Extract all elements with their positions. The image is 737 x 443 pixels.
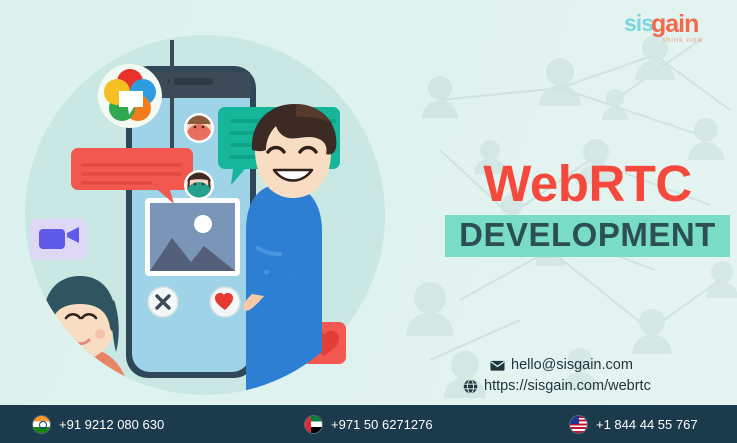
headline-subtitle-band: DEVELOPMENT [445,215,730,257]
flag-usa-icon [570,416,587,433]
photo-placeholder-icon [145,198,240,276]
phone-india-number: +91 9212 080 630 [59,417,164,432]
close-button-icon [148,287,178,317]
svg-text:sis: sis [624,10,653,36]
video-camera-icon [30,218,87,260]
headline-subtitle: DEVELOPMENT [449,218,726,253]
page-title: WebRTC [445,158,730,209]
webrtc-illustration [0,0,420,405]
envelope-icon [490,358,505,373]
contact-bottom-bar: +91 9212 080 630 +971 50 6271276 +1 844 … [0,405,737,443]
contact-block: hello@sisgain.com https://sisgain.com/we… [455,355,730,397]
headline-block: WebRTC DEVELOPMENT [445,158,730,257]
webrtc-development-banner: sis gain think now gain WebRTC DEVELOPME… [0,0,737,443]
phone-usa[interactable]: +1 844 44 55 767 [570,416,698,433]
flag-india-icon [33,416,50,433]
google-petals-icon [98,64,162,128]
globe-icon [463,379,478,394]
avatar-woman-small [184,170,214,200]
svg-text:think now: think now [663,35,704,44]
contact-website-text: https://sisgain.com/webrtc [484,376,651,397]
phone-usa-number: +1 844 44 55 767 [596,417,698,432]
heart-button-icon [210,287,240,317]
sisgain-logo[interactable]: sis gain think now [622,6,727,48]
avatar-man-small [184,113,214,143]
svg-text:gain: gain [651,10,698,38]
phone-india[interactable]: +91 9212 080 630 [33,416,164,433]
contact-email-row[interactable]: hello@sisgain.com [455,355,730,376]
phone-uae[interactable]: +971 50 6271276 [305,416,433,433]
phone-uae-number: +971 50 6271276 [331,417,433,432]
flag-uae-icon [305,416,322,433]
contact-email-text: hello@sisgain.com [511,355,633,376]
contact-website-row[interactable]: https://sisgain.com/webrtc [455,376,730,397]
